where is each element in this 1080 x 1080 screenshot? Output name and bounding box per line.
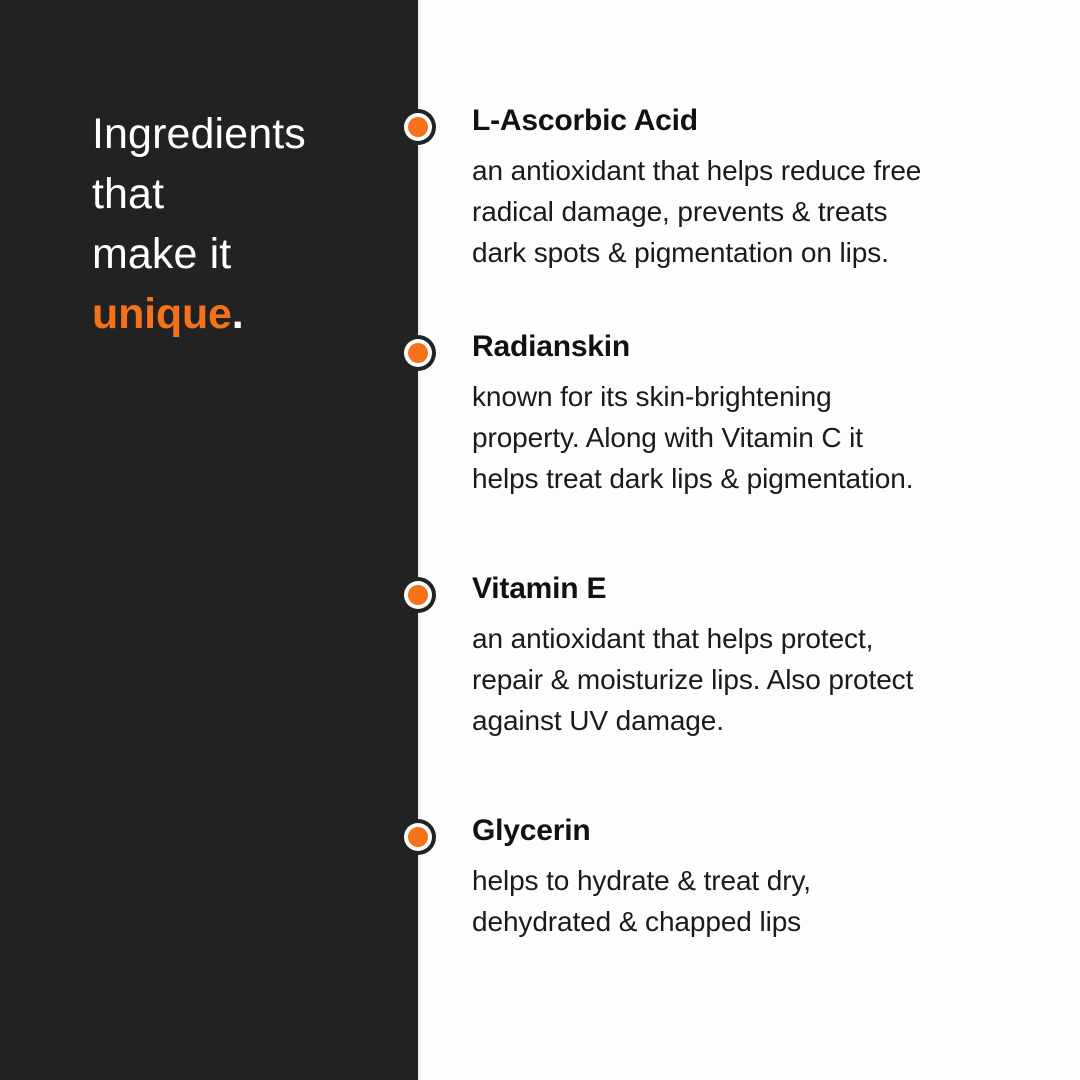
filled-circle-icon [400,577,436,613]
bullet-core [408,343,428,363]
list-item-body: Vitamin E an antioxidant that helps prot… [472,572,1038,741]
ingredient-list: L-Ascorbic Acid an antioxidant that help… [0,0,1080,1080]
ingredients-infographic: Ingredients that make it unique. L-Ascor… [0,0,1080,1080]
list-item-body: Glycerin helps to hydrate & treat dry, d… [472,814,1038,942]
ingredient-description: helps to hydrate & treat dry, dehydrated… [472,860,1038,942]
filled-circle-icon [400,335,436,371]
ingredient-description: known for its skin-brightening property.… [472,376,1038,499]
ingredient-title: Glycerin [472,814,1038,848]
list-item-body: L-Ascorbic Acid an antioxidant that help… [472,104,1038,273]
filled-circle-icon [400,819,436,855]
bullet-core [408,827,428,847]
filled-circle-icon [400,109,436,145]
list-item-body: Radianskin known for its skin-brightenin… [472,330,1038,499]
ingredient-description: an antioxidant that helps reduce free ra… [472,150,1038,273]
ingredient-title: L-Ascorbic Acid [472,104,1038,138]
ingredient-title: Vitamin E [472,572,1038,606]
ingredient-description: an antioxidant that helps protect, repai… [472,618,1038,741]
bullet-core [408,117,428,137]
bullet-core [408,585,428,605]
ingredient-title: Radianskin [472,330,1038,364]
